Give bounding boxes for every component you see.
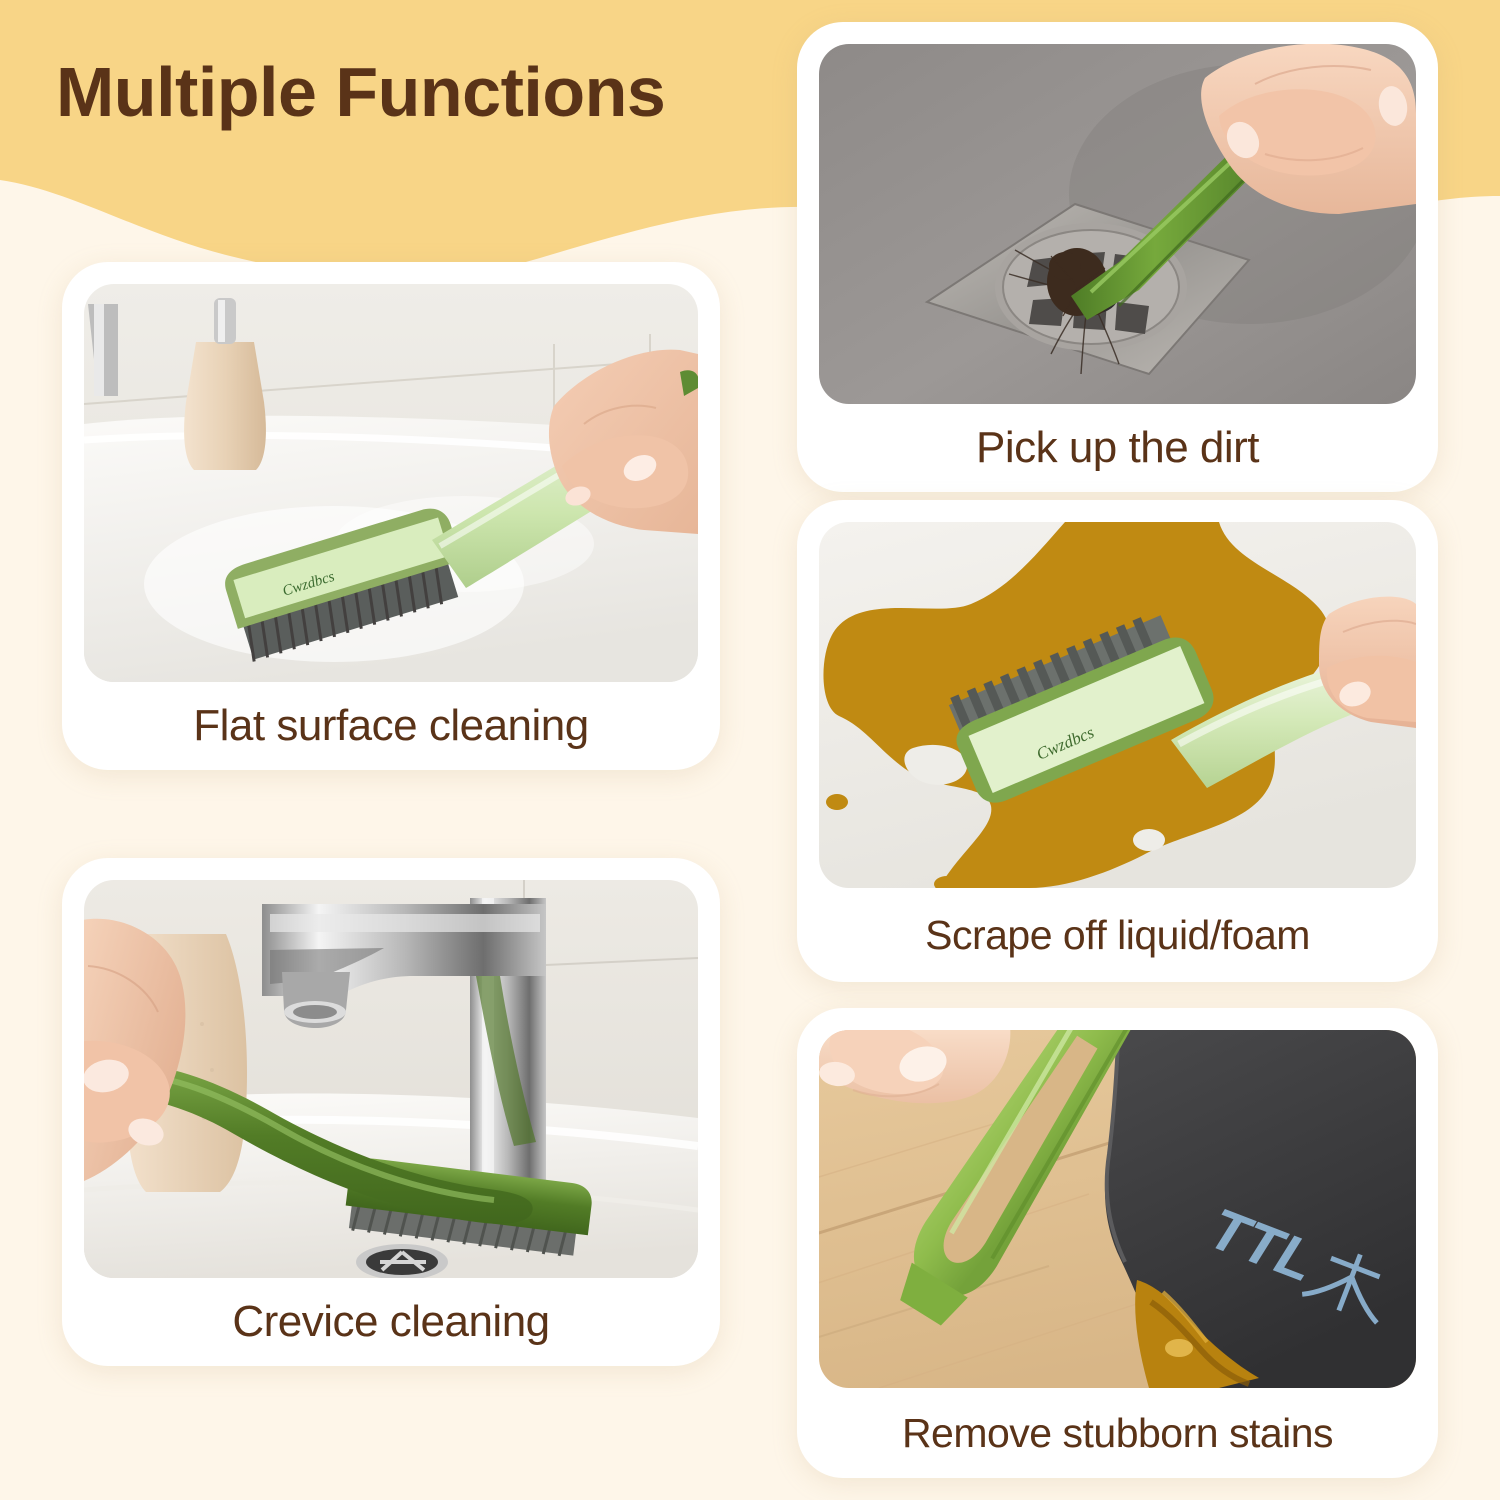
feature-card-remove-stubborn-stains: TTL — [797, 1008, 1438, 1478]
feature-card-crevice-cleaning: Crevice cleaning — [62, 858, 720, 1366]
photo-scrape-off-liquid-foam: Cwzdbcs — [819, 522, 1416, 888]
photo-crevice-cleaning — [84, 880, 698, 1278]
photo-flat-surface-cleaning: Cwzdbcs — [84, 284, 698, 682]
caption-pick-up-the-dirt: Pick up the dirt — [819, 404, 1416, 492]
page-title: Multiple Functions — [56, 52, 665, 132]
caption-scrape-off-liquid-foam: Scrape off liquid/foam — [819, 888, 1416, 982]
caption-flat-surface-cleaning: Flat surface cleaning — [84, 682, 698, 770]
caption-crevice-cleaning: Crevice cleaning — [84, 1278, 698, 1366]
photo-remove-stubborn-stains: TTL — [819, 1030, 1416, 1388]
feature-card-pick-up-the-dirt: Pick up the dirt — [797, 22, 1438, 492]
feature-card-flat-surface-cleaning: Cwzdbcs Flat surface cleaning — [62, 262, 720, 770]
caption-remove-stubborn-stains: Remove stubborn stains — [819, 1388, 1416, 1478]
photo-pick-up-the-dirt — [819, 44, 1416, 404]
feature-card-scrape-off-liquid-foam: Cwzdbcs Scrape off liquid/foam — [797, 500, 1438, 982]
